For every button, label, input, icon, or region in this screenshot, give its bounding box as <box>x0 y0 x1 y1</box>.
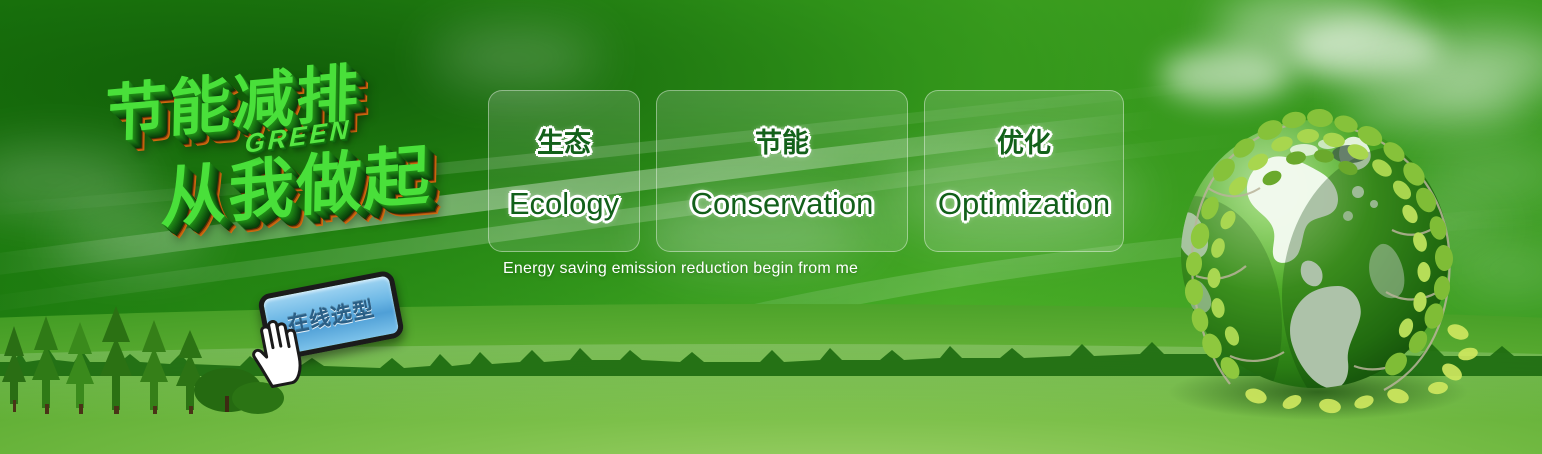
cloud-icon <box>1215 0 1405 68</box>
feature-card-en-label: Optimization <box>938 186 1110 222</box>
green-energy-banner: 节能减排 从我做起 GREEN 在线选型 生态 Ecology 节能 Conse… <box>0 0 1542 454</box>
feature-card-ecology[interactable]: 生态 Ecology <box>488 90 640 252</box>
feature-card-en-label: Ecology <box>509 186 619 222</box>
feature-card-cn-label: 优化 <box>997 121 1051 160</box>
feature-card-cn-label: 节能 <box>755 121 809 160</box>
feature-card-en-label: Conservation <box>691 186 874 222</box>
cloud-icon <box>1400 30 1542 96</box>
cloud-icon <box>1290 18 1440 78</box>
banner-tagline: Energy saving emission reduction begin f… <box>503 260 858 278</box>
feature-card-optimization[interactable]: 优化 Optimization <box>924 90 1124 252</box>
leafy-green-globe-icon <box>1152 96 1482 426</box>
main-headline: 节能减排 从我做起 GREEN <box>91 26 490 288</box>
feature-cards: 生态 Ecology 节能 Conservation 优化 Optimizati… <box>488 90 1124 252</box>
feature-card-cn-label: 生态 <box>537 121 591 160</box>
feature-card-conservation[interactable]: 节能 Conservation <box>656 90 908 252</box>
cloud-icon <box>1160 48 1290 102</box>
